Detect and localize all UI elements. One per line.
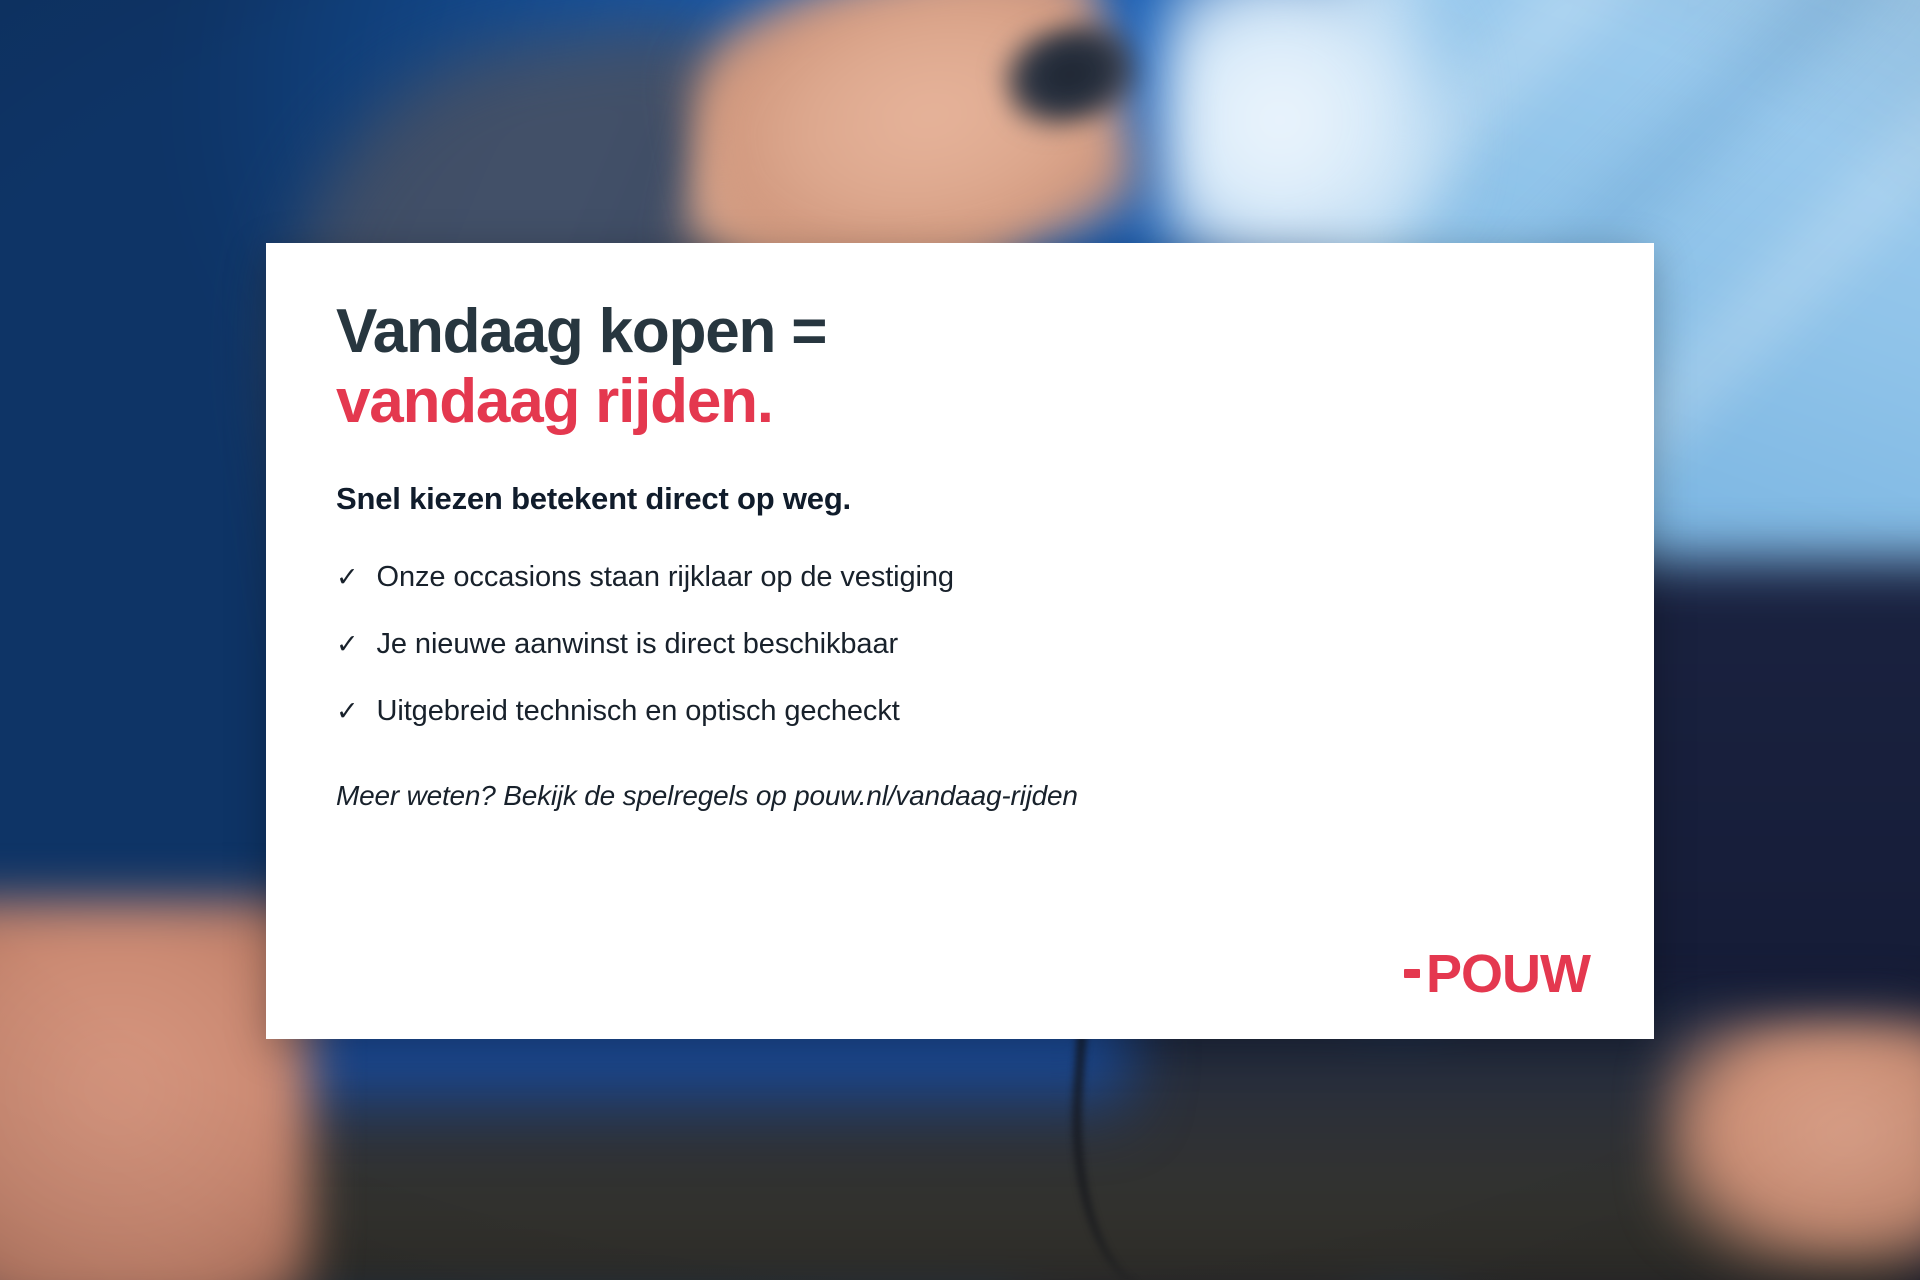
subheading: Snel kiezen betekent direct op weg. (336, 481, 1584, 517)
list-item-label: Onze occasions staan rijklaar op de vest… (377, 561, 954, 594)
promo-banner: Vandaag kopen = vandaag rijden. Snel kie… (0, 0, 1920, 1280)
pouw-logo[interactable]: POUW (1404, 947, 1590, 1001)
check-icon: ✓ (336, 564, 359, 591)
logo-dash-icon (1404, 969, 1420, 978)
footnote-link-text[interactable]: Meer weten? Bekijk de spelregels op pouw… (336, 780, 1584, 812)
list-item: ✓ Je nieuwe aanwinst is direct beschikba… (336, 628, 1584, 661)
headline-line-1: Vandaag kopen = (336, 297, 1584, 367)
list-item-label: Je nieuwe aanwinst is direct beschikbaar (377, 628, 899, 661)
logo-wordmark: POUW (1426, 947, 1590, 1001)
promo-card: Vandaag kopen = vandaag rijden. Snel kie… (266, 243, 1654, 1039)
list-item: ✓ Uitgebreid technisch en optisch gechec… (336, 695, 1584, 728)
benefit-list: ✓ Onze occasions staan rijklaar op de ve… (336, 561, 1584, 728)
headline-line-2: vandaag rijden. (336, 367, 1584, 437)
list-item: ✓ Onze occasions staan rijklaar op de ve… (336, 561, 1584, 594)
check-icon: ✓ (336, 698, 359, 725)
check-icon: ✓ (336, 631, 359, 658)
page-title: Vandaag kopen = vandaag rijden. (336, 297, 1584, 437)
list-item-label: Uitgebreid technisch en optisch gecheckt (377, 695, 900, 728)
